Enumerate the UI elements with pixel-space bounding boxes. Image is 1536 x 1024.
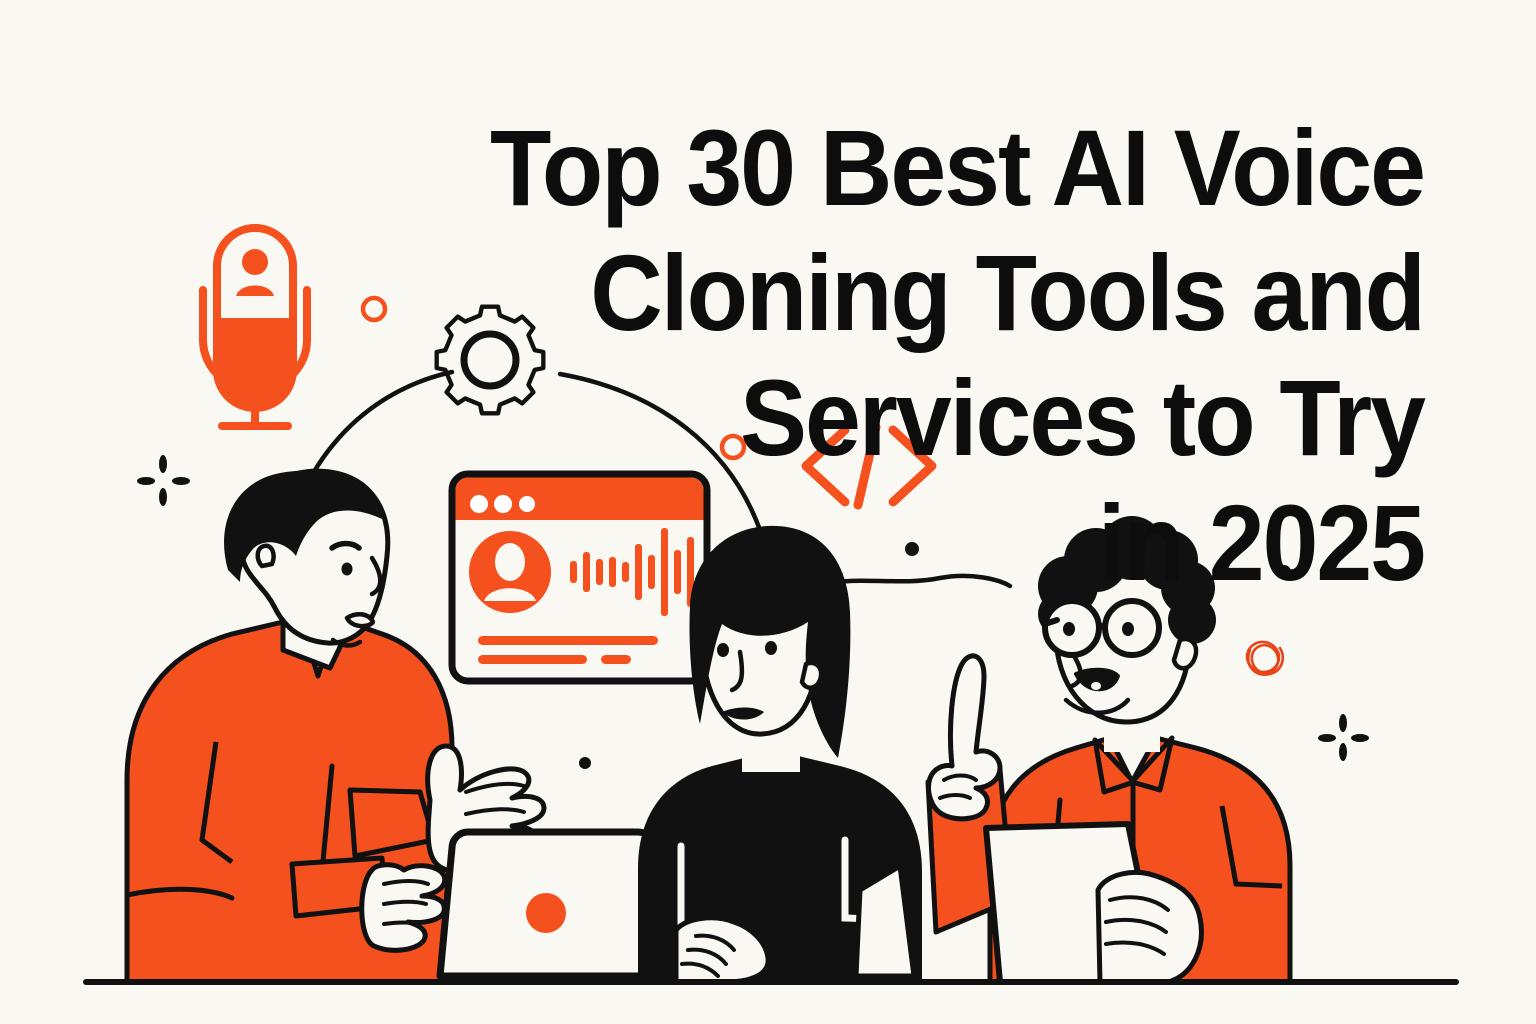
browser-title-bar bbox=[456, 478, 704, 521]
laptop bbox=[440, 832, 672, 976]
user-avatar-icon bbox=[469, 531, 551, 613]
content-line bbox=[601, 655, 631, 664]
window-dot bbox=[470, 495, 488, 513]
content-line bbox=[478, 636, 658, 645]
window-dot bbox=[519, 496, 535, 512]
laptop-logo bbox=[526, 893, 566, 933]
browser-window-card bbox=[452, 474, 707, 681]
dot-decor bbox=[905, 542, 919, 556]
window-dot bbox=[494, 495, 512, 513]
dot-decor bbox=[579, 757, 591, 769]
content-line bbox=[478, 655, 587, 664]
dot-decor bbox=[1277, 565, 1291, 579]
illustration-canvas bbox=[0, 0, 1536, 1024]
holding-hand bbox=[1098, 872, 1201, 982]
hero-banner: Top 30 Best AI Voice Cloning Tools and S… bbox=[0, 0, 1536, 1024]
